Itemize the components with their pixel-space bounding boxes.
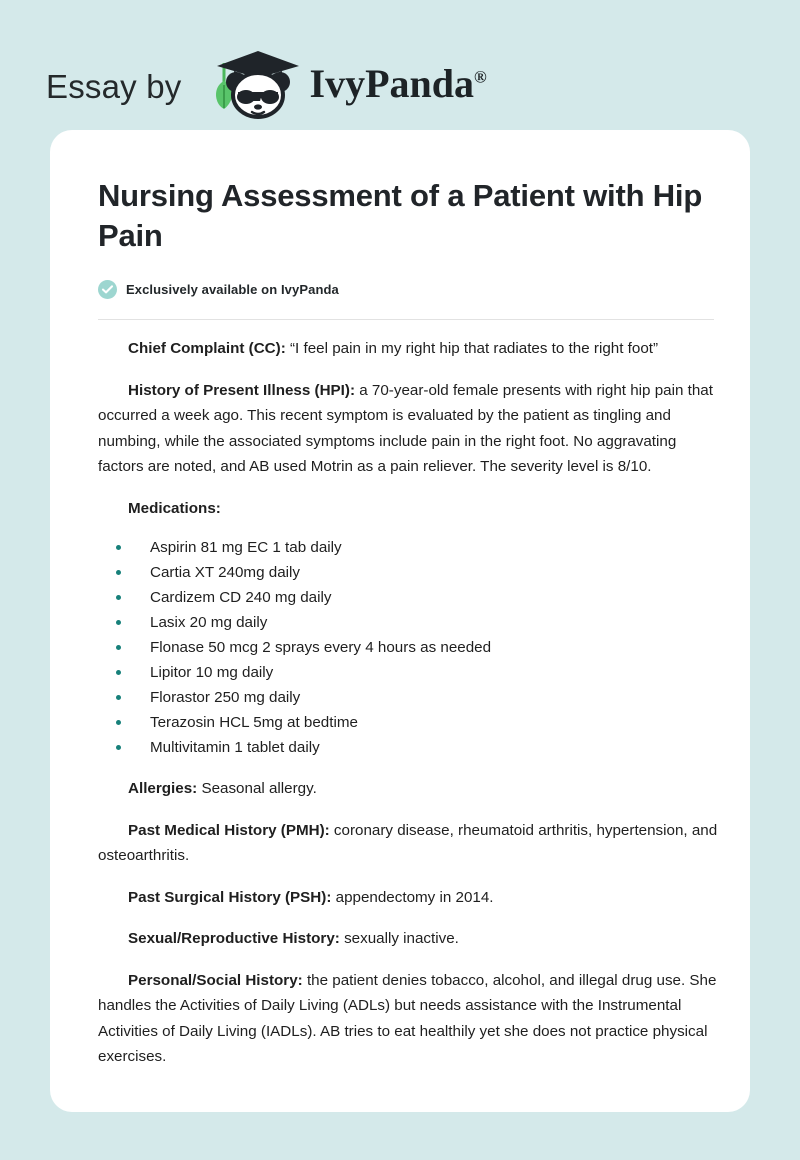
list-item: Aspirin 81 mg EC 1 tab daily xyxy=(116,535,720,560)
section-personal-social-history: Personal/Social History: the patient den… xyxy=(98,968,720,1070)
essay-body: Chief Complaint (CC): “I feel pain in my… xyxy=(74,336,720,1070)
section-body-text: Seasonal allergy. xyxy=(201,780,316,797)
section-history-present-illness: History of Present Illness (HPI): a 70-y… xyxy=(98,378,720,480)
section-lead-label: Past Surgical History (PSH): xyxy=(128,889,336,906)
medications-heading: Medications: xyxy=(98,496,720,522)
essay-paper-card: Nursing Assessment of a Patient with Hip… xyxy=(50,130,750,1112)
list-item: Cardizem CD 240 mg daily xyxy=(116,585,720,610)
exclusive-badge-label: Exclusively available on IvyPanda xyxy=(126,282,339,297)
section-allergies: Allergies: Seasonal allergy. xyxy=(98,776,720,802)
list-item: Lipitor 10 mg daily xyxy=(116,660,720,685)
section-past-medical-history: Past Medical History (PMH): coronary dis… xyxy=(98,818,720,869)
section-chief-complaint: Chief Complaint (CC): “I feel pain in my… xyxy=(98,336,720,362)
check-circle-icon xyxy=(98,280,117,299)
exclusive-availability-badge: Exclusively available on IvyPanda xyxy=(98,280,720,299)
section-body-text: “I feel pain in my right hip that radiat… xyxy=(290,340,658,357)
page-title: Nursing Assessment of a Patient with Hip… xyxy=(74,176,714,256)
header-divider xyxy=(98,319,714,320)
list-item: Multivitamin 1 tablet daily xyxy=(116,735,720,760)
registered-mark: ® xyxy=(474,68,487,87)
brand-name-text: IvyPanda xyxy=(310,61,475,106)
list-item: Cartia XT 240mg daily xyxy=(116,560,720,585)
section-lead-label: Personal/Social History: xyxy=(128,972,307,989)
list-item: Florastor 250 mg daily xyxy=(116,685,720,710)
list-item: Flonase 50 mcg 2 sprays every 4 hours as… xyxy=(116,635,720,660)
section-past-surgical-history: Past Surgical History (PSH): appendectom… xyxy=(98,885,720,911)
section-lead-label: Chief Complaint (CC): xyxy=(128,340,290,357)
section-sexual-reproductive-history: Sexual/Reproductive History: sexually in… xyxy=(98,926,720,952)
medications-list: Aspirin 81 mg EC 1 tab daily Cartia XT 2… xyxy=(98,535,720,760)
section-body-text: sexually inactive. xyxy=(344,930,459,947)
section-body-text: appendectomy in 2014. xyxy=(336,889,494,906)
section-lead-label: Sexual/Reproductive History: xyxy=(128,930,344,947)
section-lead-label: History of Present Illness (HPI): xyxy=(128,382,359,399)
section-lead-label: Past Medical History (PMH): xyxy=(128,822,334,839)
section-lead-label: Allergies: xyxy=(128,780,201,797)
panda-graduate-logo-icon xyxy=(200,45,316,119)
essay-by-label: Essay by xyxy=(46,70,182,103)
list-item: Terazosin HCL 5mg at bedtime xyxy=(116,710,720,735)
list-item: Lasix 20 mg daily xyxy=(116,610,720,635)
ivypanda-wordmark: IvyPanda® xyxy=(310,64,487,104)
brand-header: Essay by IvyPanda® xyxy=(0,0,800,130)
